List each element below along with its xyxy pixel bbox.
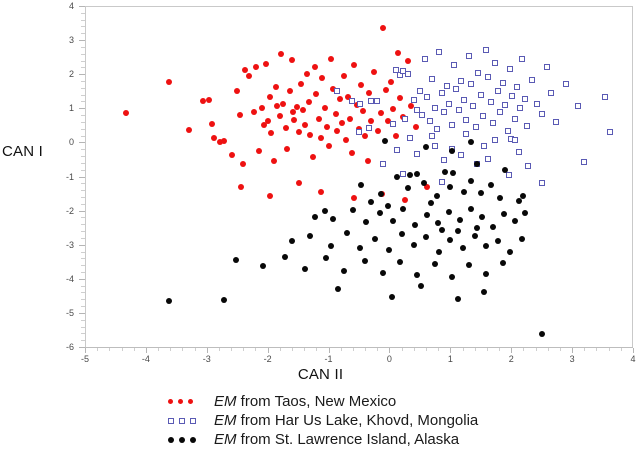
x-tick-label: -3 — [195, 354, 219, 365]
scatter-plot-figure: -5-4-3-2-101234 43210-1-2-3-4-5-6 CAN II… — [0, 0, 641, 461]
legend-species-name: EM — [214, 412, 237, 429]
y-tick-minor — [81, 170, 85, 171]
x-tick-label: -4 — [134, 354, 158, 365]
x-tick-minor — [426, 348, 427, 351]
x-tick-minor — [463, 348, 464, 351]
x-tick-minor — [109, 348, 110, 351]
x-tick-minor — [195, 348, 196, 351]
y-tick — [79, 313, 85, 314]
y-tick-minor — [81, 54, 85, 55]
y-tick-minor — [81, 265, 85, 266]
legend-marker — [179, 437, 185, 443]
x-tick-label: -1 — [317, 354, 341, 365]
x-tick-minor — [402, 348, 403, 351]
y-tick-label: -3 — [52, 240, 74, 250]
red-dots-icon — [168, 399, 214, 404]
y-tick-minor — [81, 20, 85, 21]
x-tick — [450, 348, 451, 353]
y-tick-minor — [81, 333, 85, 334]
y-tick-minor — [81, 340, 85, 341]
y-tick-minor — [81, 122, 85, 123]
y-tick — [79, 74, 85, 75]
x-tick-minor — [377, 348, 378, 351]
y-axis-title: CAN I — [2, 143, 82, 160]
x-tick — [207, 348, 208, 353]
legend-label: EM from St. Lawrence Island, Alaska — [214, 431, 459, 448]
legend-marker — [178, 399, 183, 404]
y-tick-label: -2 — [52, 206, 74, 216]
legend-locality: from Har Us Lake, Khovd, Mongolia — [237, 412, 479, 429]
x-tick-label: 4 — [621, 354, 641, 365]
y-tick-minor — [81, 299, 85, 300]
x-tick-minor — [414, 348, 415, 351]
y-tick-minor — [81, 258, 85, 259]
legend-label: EM from Taos, New Mexico — [214, 393, 396, 410]
y-tick — [79, 40, 85, 41]
x-tick — [511, 348, 512, 353]
x-tick-minor — [536, 348, 537, 351]
y-tick-minor — [81, 33, 85, 34]
legend: EM from Taos, New MexicoEM from Har Us L… — [0, 392, 641, 449]
legend-marker — [190, 418, 196, 424]
y-tick-minor — [81, 61, 85, 62]
x-tick-minor — [353, 348, 354, 351]
x-tick-minor — [182, 348, 183, 351]
x-tick-minor — [219, 348, 220, 351]
y-tick-label: 3 — [52, 35, 74, 45]
x-tick-minor — [365, 348, 366, 351]
x-tick-label: -5 — [73, 354, 97, 365]
x-tick-minor — [438, 348, 439, 351]
y-tick-label: 2 — [52, 69, 74, 79]
y-tick-minor — [81, 292, 85, 293]
legend-marker — [168, 437, 174, 443]
black-dots-icon — [168, 437, 214, 443]
y-tick-label: 1 — [52, 103, 74, 113]
y-tick-minor — [81, 190, 85, 191]
y-tick-minor — [81, 26, 85, 27]
y-tick-minor — [81, 252, 85, 253]
legend-marker — [168, 418, 174, 424]
legend-marker — [179, 418, 185, 424]
y-tick-label: -4 — [52, 274, 74, 284]
x-tick-minor — [499, 348, 500, 351]
x-tick-minor — [596, 348, 597, 351]
x-tick — [329, 348, 330, 353]
y-tick-minor — [81, 204, 85, 205]
x-tick-minor — [170, 348, 171, 351]
x-tick-minor — [621, 348, 622, 351]
y-tick-label: -1 — [52, 172, 74, 182]
x-tick-label: -2 — [256, 354, 280, 365]
x-tick-minor — [134, 348, 135, 351]
legend-locality: from St. Lawrence Island, Alaska — [237, 431, 460, 448]
y-tick-minor — [81, 183, 85, 184]
x-tick-minor — [475, 348, 476, 351]
y-tick-minor — [81, 67, 85, 68]
x-tick — [268, 348, 269, 353]
legend-label: EM from Har Us Lake, Khovd, Mongolia — [214, 412, 478, 429]
x-tick-minor — [158, 348, 159, 351]
legend-species-name: EM — [214, 431, 237, 448]
y-tick — [79, 245, 85, 246]
y-tick-minor — [81, 163, 85, 164]
y-tick-minor — [81, 81, 85, 82]
x-tick-minor — [487, 348, 488, 351]
x-tick — [572, 348, 573, 353]
y-tick-minor — [81, 13, 85, 14]
x-tick — [85, 348, 86, 353]
y-tick-label: -5 — [52, 308, 74, 318]
x-tick-label: 3 — [560, 354, 584, 365]
y-tick-label: -6 — [52, 342, 74, 352]
plot-area — [85, 6, 633, 348]
x-tick-minor — [609, 348, 610, 351]
x-tick-minor — [316, 348, 317, 351]
y-tick-minor — [81, 272, 85, 273]
x-axis-line — [85, 347, 633, 348]
y-tick-minor — [81, 286, 85, 287]
x-tick-minor — [255, 348, 256, 351]
legend-marker — [188, 399, 193, 404]
y-tick — [79, 211, 85, 212]
x-tick-minor — [97, 348, 98, 351]
y-tick-minor — [81, 306, 85, 307]
x-tick-minor — [304, 348, 305, 351]
y-tick-minor — [81, 320, 85, 321]
y-tick-minor — [81, 95, 85, 96]
x-tick — [146, 348, 147, 353]
x-tick — [389, 348, 390, 353]
legend-marker — [190, 437, 196, 443]
x-tick-minor — [122, 348, 123, 351]
y-tick — [79, 6, 85, 7]
y-tick — [79, 177, 85, 178]
x-tick-minor — [560, 348, 561, 351]
y-tick-minor — [81, 47, 85, 48]
legend-locality: from Taos, New Mexico — [237, 393, 397, 410]
x-tick-label: 0 — [377, 354, 401, 365]
x-tick-minor — [280, 348, 281, 351]
x-tick-minor — [548, 348, 549, 351]
legend-entry-2[interactable]: EM from St. Lawrence Island, Alaska — [0, 430, 641, 449]
y-tick-minor — [81, 129, 85, 130]
x-tick-minor — [584, 348, 585, 351]
y-tick-minor — [81, 115, 85, 116]
y-tick — [79, 347, 85, 348]
y-tick-minor — [81, 136, 85, 137]
x-tick-label: 2 — [499, 354, 523, 365]
x-tick-minor — [231, 348, 232, 351]
legend-marker — [168, 399, 173, 404]
x-tick-minor — [523, 348, 524, 351]
x-tick-label: 1 — [438, 354, 462, 365]
legend-species-name: EM — [214, 393, 237, 410]
y-tick — [79, 108, 85, 109]
x-tick-minor — [243, 348, 244, 351]
y-tick-minor — [81, 217, 85, 218]
y-tick-minor — [81, 88, 85, 89]
y-tick-minor — [81, 238, 85, 239]
blue-squares-icon — [168, 418, 214, 424]
y-tick-minor — [81, 327, 85, 328]
y-tick-minor — [81, 101, 85, 102]
x-tick-minor — [341, 348, 342, 351]
x-tick-minor — [292, 348, 293, 351]
x-tick — [633, 348, 634, 353]
y-tick-label: 4 — [52, 1, 74, 11]
y-tick — [79, 279, 85, 280]
x-axis-title: CAN II — [0, 366, 641, 383]
legend-entry-0[interactable]: EM from Taos, New Mexico — [0, 392, 641, 411]
y-tick-minor — [81, 231, 85, 232]
y-tick-minor — [81, 224, 85, 225]
y-tick-minor — [81, 197, 85, 198]
legend-entry-1[interactable]: EM from Har Us Lake, Khovd, Mongolia — [0, 411, 641, 430]
